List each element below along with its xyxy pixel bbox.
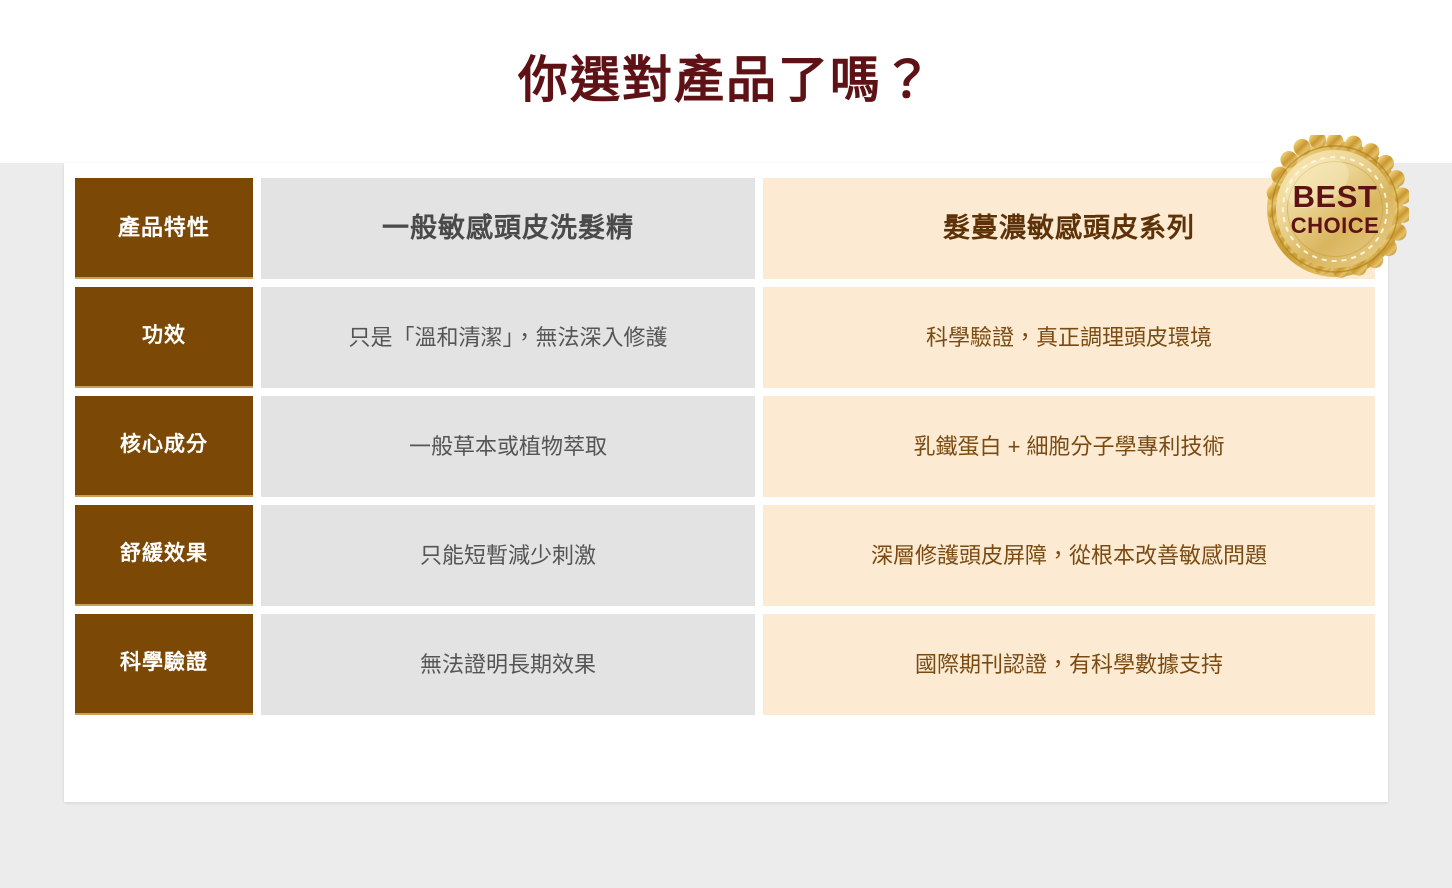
table-row: 科學驗證 無法證明長期效果 國際期刊認證，有科學數據支持 bbox=[75, 614, 1375, 715]
table-row: 功效 只是「溫和清潔」，無法深入修護 科學驗證，真正調理頭皮環境 bbox=[75, 287, 1375, 388]
gold-seal-icon bbox=[1261, 135, 1409, 283]
table-row: 核心成分 一般草本或植物萃取 乳鐵蛋白 + 細胞分子學專利技術 bbox=[75, 396, 1375, 497]
cell-ordinary-soothing: 只能短暫減少刺激 bbox=[261, 505, 755, 606]
cell-ordinary-efficacy: 只是「溫和清潔」，無法深入修護 bbox=[261, 287, 755, 388]
table-row: 舒緩效果 只能短暫減少刺激 深層修護頭皮屏障，從根本改善敏感問題 bbox=[75, 505, 1375, 606]
table-header-row: 產品特性 一般敏感頭皮洗髮精 髮蔓濃敏感頭皮系列 bbox=[75, 178, 1375, 279]
cell-ours-core-ingredient: 乳鐵蛋白 + 細胞分子學專利技術 bbox=[763, 396, 1375, 497]
cell-ours-efficacy: 科學驗證，真正調理頭皮環境 bbox=[763, 287, 1375, 388]
column-header-feature: 產品特性 bbox=[75, 178, 253, 279]
row-label-soothing: 舒緩效果 bbox=[75, 505, 253, 606]
row-label-scientific-validation: 科學驗證 bbox=[75, 614, 253, 715]
cell-ours-scientific-validation: 國際期刊認證，有科學數據支持 bbox=[763, 614, 1375, 715]
best-choice-badge: BEST CHOICE bbox=[1261, 135, 1409, 283]
row-label-efficacy: 功效 bbox=[75, 287, 253, 388]
cell-ordinary-scientific-validation: 無法證明長期效果 bbox=[261, 614, 755, 715]
row-label-core-ingredient: 核心成分 bbox=[75, 396, 253, 497]
column-header-ordinary: 一般敏感頭皮洗髮精 bbox=[261, 178, 755, 279]
cell-ours-soothing: 深層修護頭皮屏障，從根本改善敏感問題 bbox=[763, 505, 1375, 606]
comparison-table: 產品特性 一般敏感頭皮洗髮精 髮蔓濃敏感頭皮系列 功效 只是「溫和清潔」，無法深… bbox=[75, 178, 1375, 715]
page-title: 你選對產品了嗎？ bbox=[0, 52, 1452, 110]
cell-ordinary-core-ingredient: 一般草本或植物萃取 bbox=[261, 396, 755, 497]
